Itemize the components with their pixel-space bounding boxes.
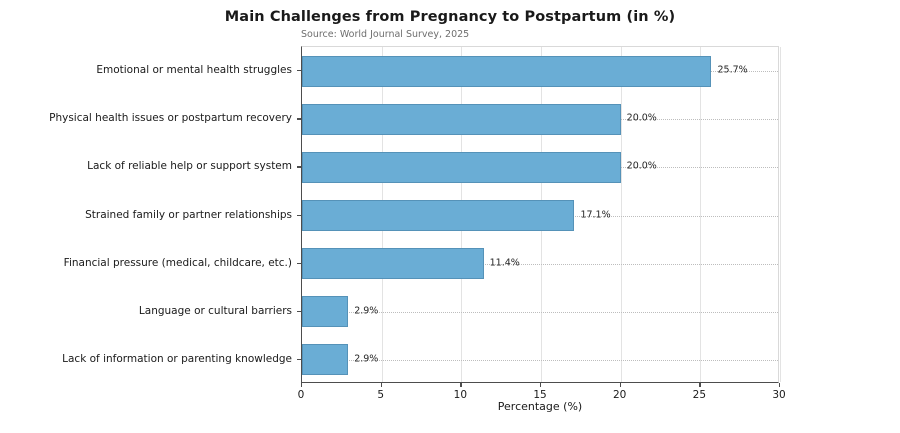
y-axis-category-label: Lack of information or parenting knowled… xyxy=(62,353,292,365)
x-axis-tick xyxy=(460,383,461,387)
x-axis-tick xyxy=(301,383,302,387)
bar-value-label: 17.1% xyxy=(580,209,610,220)
y-axis-tick xyxy=(297,359,301,360)
bars-layer xyxy=(302,47,778,382)
bar xyxy=(302,152,621,183)
bar xyxy=(302,56,711,87)
y-axis-tick xyxy=(297,118,301,119)
page-title: Main Challenges from Pregnancy to Postpa… xyxy=(0,9,900,25)
bar-value-label: 2.9% xyxy=(354,353,378,364)
bar xyxy=(302,296,348,327)
y-axis-category-label: Strained family or partner relationships xyxy=(85,209,292,221)
bar-value-label: 2.9% xyxy=(354,305,378,316)
y-axis-category-label: Physical health issues or postpartum rec… xyxy=(49,112,292,124)
bar xyxy=(302,344,348,375)
y-axis-tick xyxy=(297,263,301,264)
bar-value-label: 11.4% xyxy=(490,257,520,268)
y-axis-tick xyxy=(297,166,301,167)
y-axis-tick xyxy=(297,70,301,71)
y-axis-category-label: Lack of reliable help or support system xyxy=(87,160,292,172)
bar-chart-figure: Main Challenges from Pregnancy to Postpa… xyxy=(0,0,900,433)
x-axis-tick xyxy=(540,383,541,387)
chart-source-subtitle: Source: World Journal Survey, 2025 xyxy=(301,29,469,40)
bar-value-label: 20.0% xyxy=(627,113,657,124)
y-axis-category-label: Emotional or mental health struggles xyxy=(96,64,292,76)
x-axis-tick xyxy=(381,383,382,387)
y-axis-tick xyxy=(297,215,301,216)
bar xyxy=(302,104,621,135)
y-axis-category-label: Financial pressure (medical, childcare, … xyxy=(64,257,292,269)
x-axis-tick xyxy=(699,383,700,387)
bar-value-label: 20.0% xyxy=(627,161,657,172)
y-axis-tick xyxy=(297,311,301,312)
bar xyxy=(302,200,574,231)
vertical-gridline xyxy=(780,47,781,382)
bar-value-label: 25.7% xyxy=(717,65,747,76)
x-axis-tick xyxy=(779,383,780,387)
bar xyxy=(302,248,484,279)
plot-area xyxy=(301,46,779,383)
x-axis-title: Percentage (%) xyxy=(301,400,779,413)
y-axis-category-label: Language or cultural barriers xyxy=(139,305,292,317)
x-axis-tick xyxy=(620,383,621,387)
